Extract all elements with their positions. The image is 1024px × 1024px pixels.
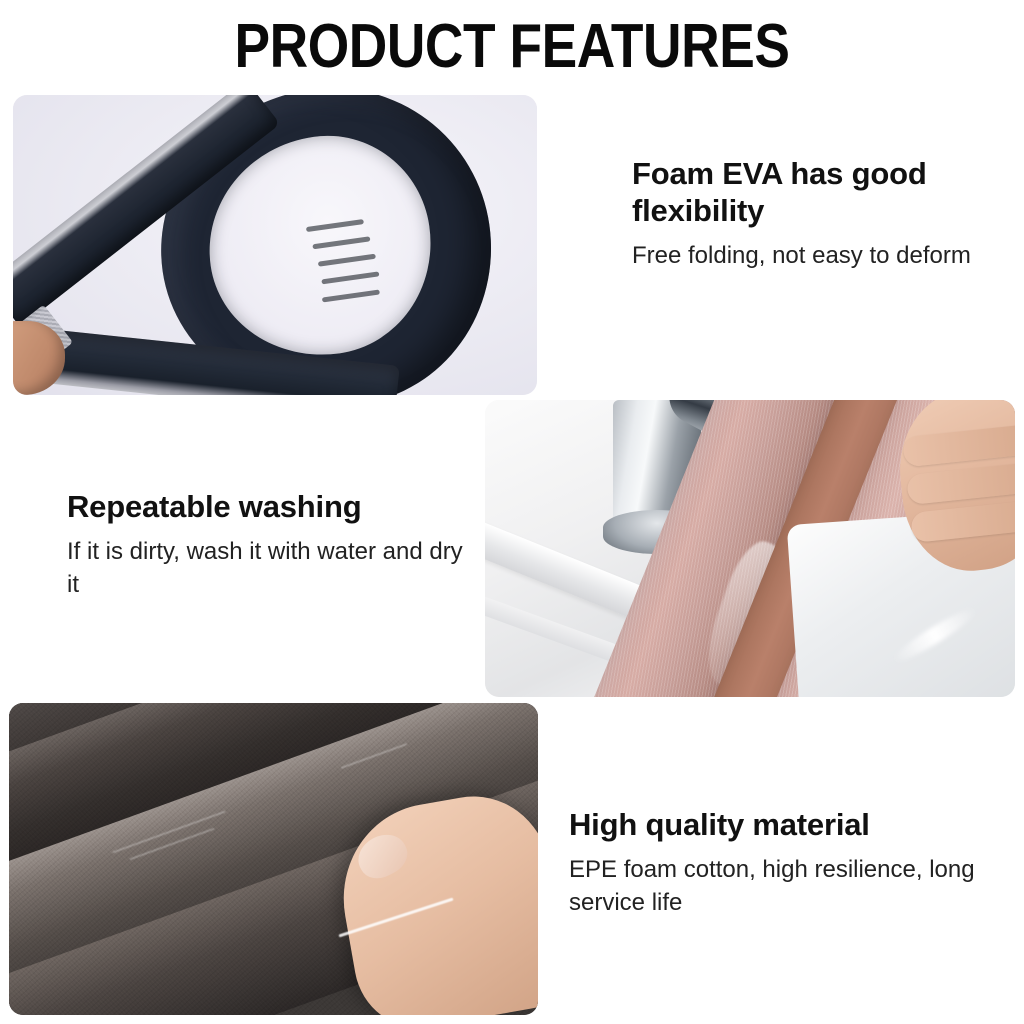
feature-description-flexibility: Free folding, not easy to deform (632, 239, 1002, 272)
photo-washing-foam-under-tap (485, 400, 1015, 697)
feature-description-material: EPE foam cotton, high resilience, long s… (569, 853, 999, 919)
feature-heading-washing: Repeatable washing (67, 488, 467, 525)
photo-epe-foam-rolls (9, 703, 538, 1015)
product-features-infographic: PRODUCT FEATURES (0, 0, 1024, 1024)
feature-block-material: High quality material EPE foam cotton, h… (569, 806, 999, 919)
washing-scene (485, 400, 1015, 697)
foam-compression-ridges (305, 210, 401, 340)
page-title: PRODUCT FEATURES (72, 16, 953, 78)
feature-heading-material: High quality material (569, 806, 999, 843)
feature-block-washing: Repeatable washing If it is dirty, wash … (67, 488, 467, 601)
feature-block-flexibility: Foam EVA has good flexibility Free foldi… (632, 155, 1002, 272)
foam-loop-scene (13, 95, 537, 395)
photo-folded-eva-foam-loop (13, 95, 537, 395)
feature-heading-flexibility: Foam EVA has good flexibility (632, 155, 1002, 229)
feature-description-washing: If it is dirty, wash it with water and d… (67, 535, 467, 601)
sink-gloss-highlight (890, 603, 980, 667)
epe-foam-scene (9, 703, 538, 1015)
